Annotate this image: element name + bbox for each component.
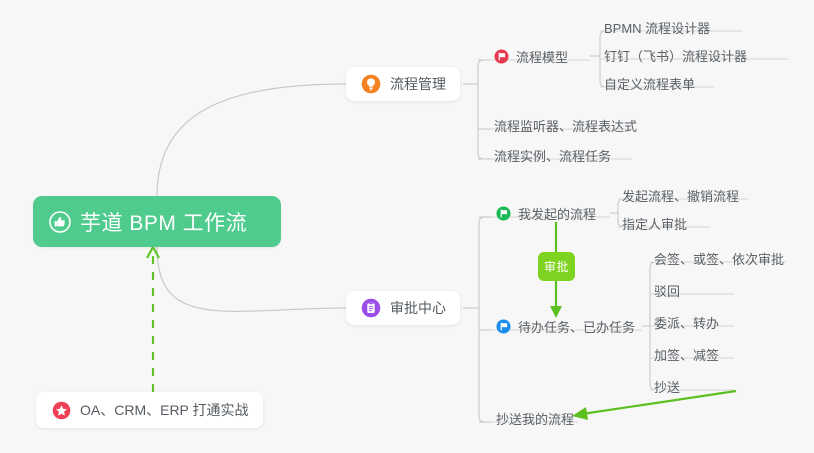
leaf-todo-done-tasks[interactable]: 待办任务、已办任务 bbox=[496, 315, 635, 339]
leaf-assignee-approval[interactable]: 指定人审批 bbox=[622, 212, 687, 236]
flag-icon bbox=[494, 49, 509, 64]
leaf-label-cc-to-me-processes: 抄送我的流程 bbox=[496, 409, 574, 428]
branch-label-approval-center: 审批中心 bbox=[390, 298, 446, 318]
leaf-dingtalk-feishu-designer[interactable]: 钉钉（飞书）流程设计器 bbox=[604, 44, 747, 68]
leaf-start-cancel-process[interactable]: 发起流程、撤销流程 bbox=[622, 184, 739, 208]
flag-icon bbox=[496, 319, 511, 334]
leaf-label-assignee-approval: 指定人审批 bbox=[622, 214, 687, 233]
leaf-carbon-copy[interactable]: 抄送 bbox=[654, 375, 680, 399]
leaf-label-custom-process-form: 自定义流程表单 bbox=[604, 74, 695, 93]
note-label-integration: OA、CRM、ERP 打通实战 bbox=[80, 400, 249, 420]
approval-flow-tag[interactable]: 审批 bbox=[538, 252, 575, 281]
leaf-label-process-instance-task: 流程实例、流程任务 bbox=[494, 146, 611, 165]
leaf-add-remove-sign[interactable]: 加签、减签 bbox=[654, 343, 719, 367]
leaf-label-bpmn-designer: BPMN 流程设计器 bbox=[604, 18, 710, 37]
connector-root-to-approval-center bbox=[157, 247, 346, 311]
connector-process-management-spine bbox=[478, 60, 484, 159]
leaf-process-instance-task[interactable]: 流程实例、流程任务 bbox=[494, 144, 611, 168]
note-node-integration[interactable]: OA、CRM、ERP 打通实战 bbox=[36, 392, 263, 428]
leaf-delegate-transfer[interactable]: 委派、转办 bbox=[654, 311, 719, 335]
leaf-label-countersign-orsign-sequential: 会签、或签、依次审批 bbox=[654, 249, 784, 268]
leaf-label-delegate-transfer: 委派、转办 bbox=[654, 313, 719, 332]
leaf-bpmn-designer[interactable]: BPMN 流程设计器 bbox=[604, 16, 710, 40]
leaf-label-dingtalk-feishu-designer: 钉钉（飞书）流程设计器 bbox=[604, 46, 747, 65]
lightbulb-icon bbox=[360, 73, 382, 95]
leaf-custom-process-form[interactable]: 自定义流程表单 bbox=[604, 72, 695, 96]
leaf-label-add-remove-sign: 加签、减签 bbox=[654, 345, 719, 364]
flag-icon bbox=[496, 206, 511, 221]
connector-root-to-process-management bbox=[157, 84, 346, 196]
leaf-process-listener-expression[interactable]: 流程监听器、流程表达式 bbox=[494, 114, 637, 138]
clipboard-icon bbox=[360, 297, 382, 319]
arrow-carbon-copy-head bbox=[572, 407, 588, 420]
leaf-label-process-model: 流程模型 bbox=[516, 47, 568, 66]
branch-node-process-management[interactable]: 流程管理 bbox=[346, 67, 460, 101]
branch-label-process-management: 流程管理 bbox=[390, 74, 446, 94]
connector-approval-center-spine bbox=[479, 217, 485, 422]
mindmap-canvas: 芋道 BPM 工作流 流程管理 审批中心 bbox=[0, 0, 814, 453]
leaf-label-my-started-processes: 我发起的流程 bbox=[518, 204, 596, 223]
leaf-label-process-listener-expression: 流程监听器、流程表达式 bbox=[494, 116, 637, 135]
approval-flow-tag-label: 审批 bbox=[544, 258, 569, 275]
leaf-label-start-cancel-process: 发起流程、撤销流程 bbox=[622, 186, 739, 205]
leaf-cc-to-me-processes[interactable]: 抄送我的流程 bbox=[496, 407, 574, 431]
leaf-process-model[interactable]: 流程模型 bbox=[494, 45, 568, 69]
leaf-reject[interactable]: 驳回 bbox=[654, 279, 680, 303]
arrow-note-to-root-head bbox=[147, 247, 159, 258]
leaf-label-todo-done-tasks: 待办任务、已办任务 bbox=[518, 317, 635, 336]
leaf-my-started-processes[interactable]: 我发起的流程 bbox=[496, 202, 596, 226]
leaf-label-reject: 驳回 bbox=[654, 281, 680, 300]
thumbs-up-icon bbox=[49, 211, 71, 233]
star-icon bbox=[50, 399, 72, 421]
branch-node-approval-center[interactable]: 审批中心 bbox=[346, 291, 460, 325]
leaf-countersign-orsign-sequential[interactable]: 会签、或签、依次审批 bbox=[654, 247, 784, 271]
leaf-label-carbon-copy: 抄送 bbox=[654, 377, 680, 396]
root-label: 芋道 BPM 工作流 bbox=[80, 207, 247, 237]
root-node[interactable]: 芋道 BPM 工作流 bbox=[33, 196, 281, 247]
